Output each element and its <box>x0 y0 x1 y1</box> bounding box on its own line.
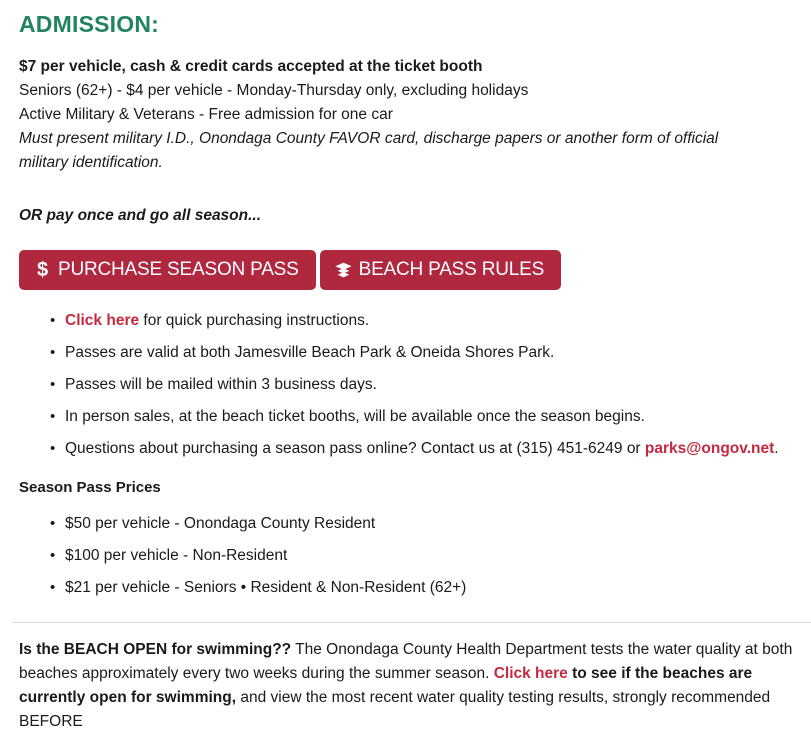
list-item: Questions about purchasing a season pass… <box>19 438 799 459</box>
dollar-sign-icon: $ <box>34 261 51 280</box>
purchase-info-list: Click here for quick purchasing instruct… <box>19 290 799 459</box>
list-item: In person sales, at the beach ticket boo… <box>19 406 799 427</box>
list-item-text-tail: . <box>774 440 778 457</box>
click-here-purchasing-link[interactable]: Click here <box>65 312 139 329</box>
admission-intro-block: $7 per vehicle, cash & credit cards acce… <box>19 39 799 175</box>
beach-open-paragraph: Is the BEACH OPEN for swimming?? The Ono… <box>19 638 803 734</box>
parks-email-link[interactable]: parks@ongov.net <box>645 440 774 457</box>
purchase-season-pass-label: PURCHASE SEASON PASS <box>58 250 299 290</box>
beach-pass-rules-button[interactable]: BEACH PASS RULES <box>320 250 561 290</box>
list-item-text: Passes will be mailed within 3 business … <box>65 376 377 393</box>
list-item-text: for quick purchasing instructions. <box>139 312 369 329</box>
intro-line-price: $7 per vehicle, cash & credit cards acce… <box>19 55 799 79</box>
section-divider <box>12 622 811 623</box>
purchase-season-pass-button[interactable]: $ PURCHASE SEASON PASS <box>19 250 316 290</box>
pass-button-row: $ PURCHASE SEASON PASS BEACH PASS RULES <box>19 228 799 290</box>
beach-open-question: Is the BEACH OPEN for swimming?? <box>19 641 291 658</box>
intro-line-military-id-note: Must present military I.D., Onondaga Cou… <box>19 127 759 175</box>
list-item: Passes are valid at both Jamesville Beac… <box>19 342 799 363</box>
click-here-water-quality-link[interactable]: Click here <box>494 665 568 682</box>
beach-pass-rules-label: BEACH PASS RULES <box>359 250 544 290</box>
list-item: $50 per vehicle - Onondaga County Reside… <box>19 513 799 534</box>
season-pass-prices-title: Season Pass Prices <box>19 459 799 498</box>
list-item: Click here for quick purchasing instruct… <box>19 310 799 331</box>
list-item: $100 per vehicle - Non-Resident <box>19 545 799 566</box>
list-item-text: Passes are valid at both Jamesville Beac… <box>65 344 554 361</box>
intro-line-military: Active Military & Veterans - Free admiss… <box>19 103 799 127</box>
list-item-text: $100 per vehicle - Non-Resident <box>65 547 287 564</box>
list-item: $21 per vehicle - Seniors • Resident & N… <box>19 577 799 598</box>
admission-page: ADMISSION: $7 per vehicle, cash & credit… <box>0 0 811 711</box>
list-item-text: $21 per vehicle - Seniors • Resident & N… <box>65 579 466 596</box>
list-item: Passes will be mailed within 3 business … <box>19 374 799 395</box>
season-pass-price-list: $50 per vehicle - Onondaga County Reside… <box>19 498 799 598</box>
list-item-text: In person sales, at the beach ticket boo… <box>65 408 645 425</box>
page-title: ADMISSION: <box>19 0 799 39</box>
layers-icon <box>335 261 352 280</box>
season-pass-teaser: OR pay once and go all season... <box>19 175 799 228</box>
intro-line-seniors: Seniors (62+) - $4 per vehicle - Monday-… <box>19 79 799 103</box>
list-item-text: $50 per vehicle - Onondaga County Reside… <box>65 515 375 532</box>
list-item-text: Questions about purchasing a season pass… <box>65 440 645 457</box>
